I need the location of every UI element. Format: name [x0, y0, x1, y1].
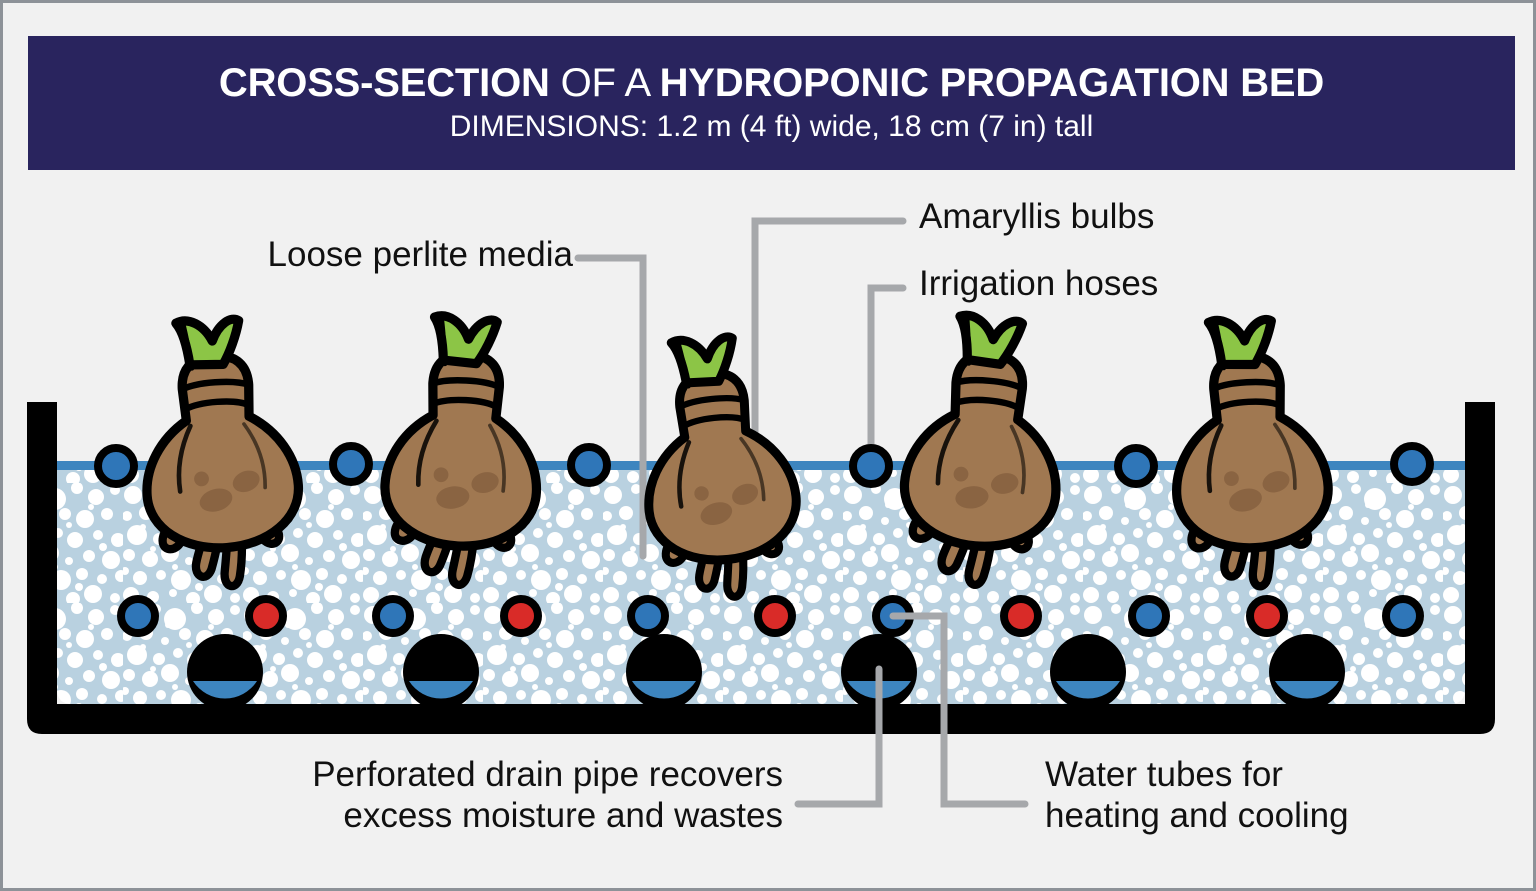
callout-amaryllis-bulbs: Amaryllis bulbs: [919, 197, 1339, 238]
irrigation-hose: [1118, 448, 1154, 484]
callout-perforated-drain-pipe: Perforated drain pipe recovers excess mo…: [193, 755, 783, 836]
water-tube-cold: [1132, 599, 1166, 633]
drain-pipe: [403, 634, 479, 710]
irrigation-hose: [571, 447, 607, 483]
water-tube-hot: [249, 599, 283, 633]
drain-pipe: [187, 634, 263, 710]
callout-water-tubes: Water tubes for heating and cooling: [1045, 755, 1485, 836]
water-tube-cold: [631, 599, 665, 633]
water-tube-cold: [376, 599, 410, 633]
infographic-page: CROSS-SECTION OF A HYDROPONIC PROPAGATIO…: [0, 0, 1536, 891]
water-tube-hot: [758, 599, 792, 633]
leader-line-bulbs: [755, 221, 903, 481]
callout-irrigation-hoses: Irrigation hoses: [919, 264, 1339, 305]
irrigation-hose: [1394, 446, 1430, 482]
leader-line-hoses: [871, 288, 903, 466]
irrigation-hose: [853, 448, 889, 484]
water-tube-hot: [1004, 599, 1038, 633]
drain-pipe: [1269, 634, 1345, 710]
water-tube-hot: [504, 599, 538, 633]
irrigation-hose: [98, 448, 134, 484]
irrigation-hose: [333, 446, 369, 482]
drain-pipe: [626, 634, 702, 710]
drain-pipe: [1050, 634, 1126, 710]
water-tube-cold: [1386, 599, 1420, 633]
water-tube-cold: [121, 599, 155, 633]
callout-loose-perlite-media: Loose perlite media: [133, 235, 573, 276]
water-tube-hot: [1250, 599, 1284, 633]
